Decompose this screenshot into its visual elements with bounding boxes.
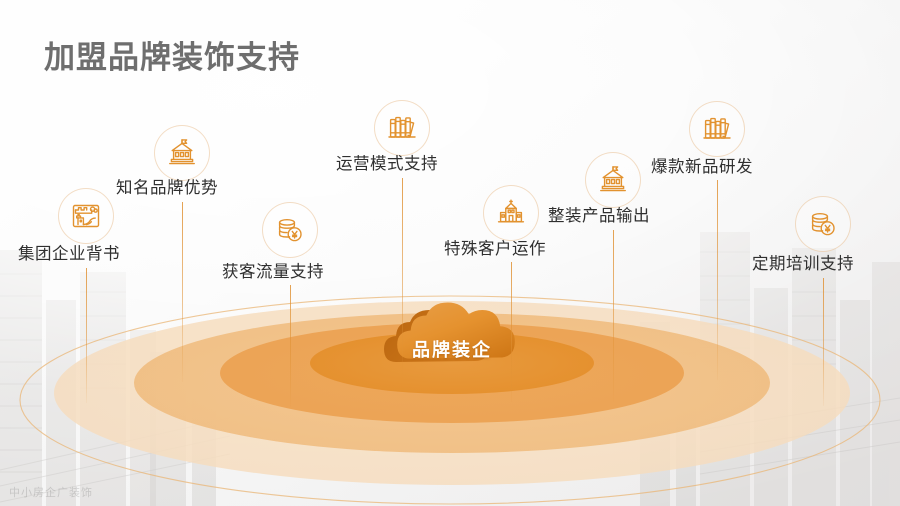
info-node-label-5: 特殊客户运作 xyxy=(444,235,546,259)
connector-stem-7 xyxy=(717,180,718,380)
watermark: 中小房企广装饰 xyxy=(9,484,93,500)
slide-canvas: 加盟品牌装饰支持 xyxy=(0,0,900,506)
connector-stem-3 xyxy=(290,285,291,407)
coin-stack-icon xyxy=(262,202,318,258)
pavilion-flag-icon xyxy=(585,152,641,208)
connector-stem-6 xyxy=(613,230,614,402)
connector-stem-1 xyxy=(86,268,87,403)
connector-stem-5 xyxy=(511,262,512,402)
great-wall-icon xyxy=(58,188,114,244)
info-node-label-1: 集团企业背书 xyxy=(18,240,120,264)
info-node-label-6: 整装产品输出 xyxy=(548,202,650,226)
pavilion-flag-icon xyxy=(154,125,210,181)
coin-stack-icon xyxy=(795,196,851,252)
books-icon xyxy=(689,101,745,157)
info-node-label-2: 知名品牌优势 xyxy=(116,174,218,198)
cloud-icon xyxy=(384,302,515,362)
books-icon xyxy=(374,100,430,156)
info-node-label-4: 运营模式支持 xyxy=(336,150,438,174)
connector-stem-8 xyxy=(823,278,824,406)
connector-stem-2 xyxy=(182,202,183,382)
info-node-label-3: 获客流量支持 xyxy=(222,258,324,282)
institution-icon xyxy=(483,185,539,241)
connector-stem-4 xyxy=(402,178,403,378)
info-node-label-7: 爆款新品研发 xyxy=(651,153,753,177)
info-node-label-8: 定期培训支持 xyxy=(752,250,854,274)
page-title: 加盟品牌装饰支持 xyxy=(44,32,300,77)
